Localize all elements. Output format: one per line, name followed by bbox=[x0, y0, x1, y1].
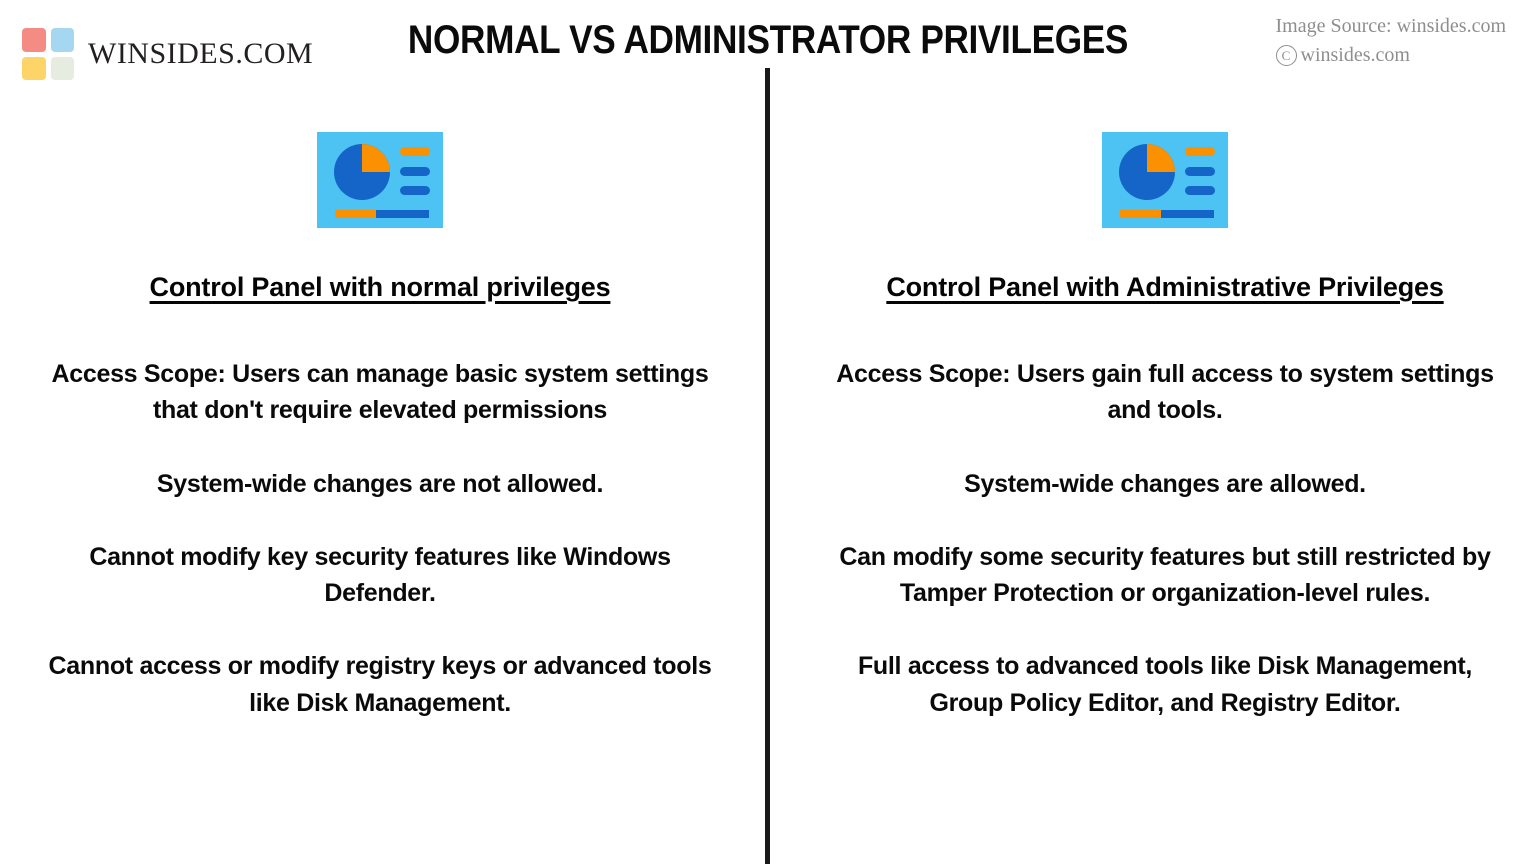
page-title: NORMAL VS ADMINISTRATOR PRIVILEGES bbox=[92, 18, 1444, 63]
progress-bar-filled bbox=[335, 210, 376, 218]
progress-bar-remainder bbox=[1161, 210, 1214, 218]
legend-bar-1 bbox=[1185, 147, 1215, 156]
column-administrative-privileges: Control Panel with Administrative Privil… bbox=[795, 132, 1535, 758]
logo-square-bottom-left bbox=[22, 57, 46, 81]
legend-bar-3 bbox=[1185, 186, 1215, 195]
copyright-line: C winsides.com bbox=[1276, 41, 1507, 70]
pie-slice-shape bbox=[1147, 144, 1175, 172]
copyright-text: winsides.com bbox=[1301, 41, 1410, 70]
list-item: Access Scope: Users can manage basic sys… bbox=[10, 356, 750, 429]
column-heading-normal: Control Panel with normal privileges bbox=[10, 272, 750, 303]
image-source-text: Image Source: winsides.com bbox=[1276, 12, 1507, 41]
legend-bar-2 bbox=[1185, 167, 1215, 176]
list-item: Full access to advanced tools like Disk … bbox=[795, 648, 1535, 721]
list-item: Access Scope: Users gain full access to … bbox=[795, 356, 1535, 429]
pie-slice-shape bbox=[362, 144, 390, 172]
list-item: System-wide changes are not allowed. bbox=[10, 466, 750, 502]
winsides-logo-icon bbox=[22, 28, 74, 80]
logo-square-top-left bbox=[22, 28, 46, 52]
copyright-icon: C bbox=[1276, 45, 1297, 66]
points-list-administrative: Access Scope: Users gain full access to … bbox=[795, 356, 1535, 721]
image-source-line: Image Source: winsides.com bbox=[1276, 12, 1507, 41]
legend-bar-3 bbox=[400, 186, 430, 195]
control-panel-dashboard-icon-left bbox=[317, 132, 443, 228]
control-panel-dashboard-icon-right bbox=[1102, 132, 1228, 228]
logo-square-bottom-right bbox=[51, 57, 75, 81]
list-item: System-wide changes are allowed. bbox=[795, 466, 1535, 502]
image-credits: Image Source: winsides.com C winsides.co… bbox=[1276, 12, 1507, 70]
list-item: Cannot modify key security features like… bbox=[10, 539, 750, 612]
list-item: Can modify some security features but st… bbox=[795, 539, 1535, 612]
progress-bar bbox=[1120, 210, 1214, 218]
points-list-normal: Access Scope: Users can manage basic sys… bbox=[10, 356, 750, 721]
progress-bar bbox=[335, 210, 429, 218]
logo-square-top-right bbox=[51, 28, 75, 52]
legend-bar-1 bbox=[400, 147, 430, 156]
legend-bar-2 bbox=[400, 167, 430, 176]
vertical-divider bbox=[765, 68, 770, 864]
progress-bar-remainder bbox=[376, 210, 429, 218]
column-normal-privileges: Control Panel with normal privileges Acc… bbox=[10, 132, 750, 758]
column-heading-administrative: Control Panel with Administrative Privil… bbox=[795, 272, 1535, 303]
progress-bar-filled bbox=[1120, 210, 1161, 218]
list-item: Cannot access or modify registry keys or… bbox=[10, 648, 750, 721]
